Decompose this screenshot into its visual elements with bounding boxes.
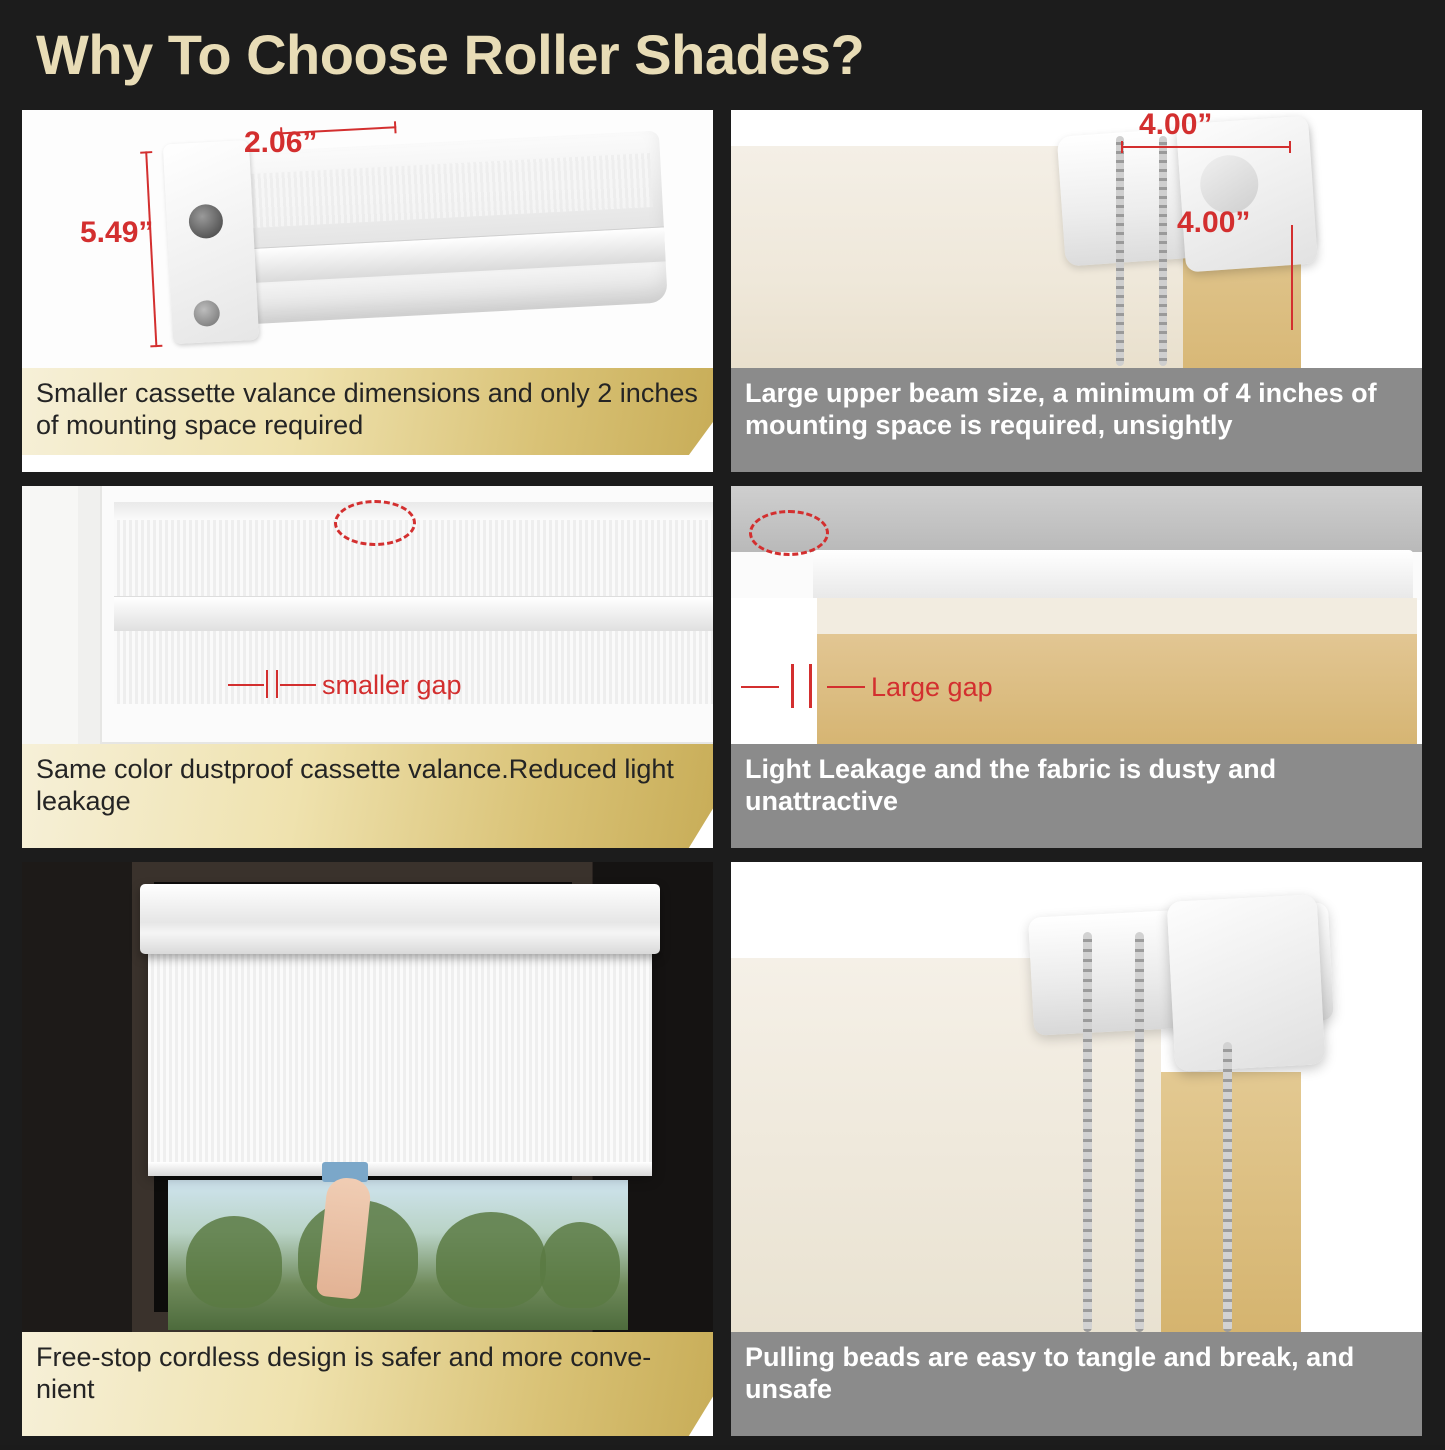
outdoor-view [168, 1180, 628, 1330]
caption-pulling-beads: Pulling beads are easy to tangle and bre… [731, 1332, 1422, 1436]
gap-tick-2 [276, 670, 278, 698]
depth-dimension-label: 2.06” [244, 126, 317, 160]
caption-cassette-valance-dimensions: Smaller cassette valance dimensions and … [22, 368, 713, 455]
caption-dustproof-cassette-valance: Same color dustproof cassette valance.Re… [22, 744, 713, 848]
photo-smaller-gap: smaller gap [22, 486, 713, 744]
grid-row-3: Free-stop cordless design is safer and m… [22, 862, 1422, 1436]
photo-large-gap: Large gap [731, 486, 1422, 744]
grid-row-2: smaller gap Same color dustproof cassett… [22, 486, 1422, 848]
gap-tick-2 [809, 664, 812, 708]
photo-cassette-valance: 5.49” 2.06” [22, 110, 713, 368]
height-dimension-label: 5.49” [80, 216, 153, 250]
bead-chain-left [1116, 136, 1124, 366]
gap-arrow-right [280, 684, 316, 686]
page-title: Why To Choose Roller Shades? [36, 22, 864, 87]
beam-width-label: 4.00” [1139, 110, 1212, 142]
caption-large-upper-beam: Large upper beam size, a minimum of 4 in… [731, 368, 1422, 472]
gap-arrow-right [827, 686, 865, 688]
caption-free-stop-cordless: Free-stop cordless design is safer and m… [22, 1332, 713, 1436]
light-gap-area [731, 598, 817, 744]
photo-bead-chain [731, 862, 1422, 1332]
ceiling-surface [731, 486, 1422, 552]
tree-shape [540, 1222, 620, 1308]
card-light-leakage: Large gap Light Leakage and the fabric i… [731, 486, 1422, 848]
fabric-upper-light [817, 598, 1417, 634]
card-pulling-beads: Pulling beads are easy to tangle and bre… [731, 862, 1422, 1436]
bead-chain-right [1135, 932, 1144, 1332]
bead-chain-loop [1223, 1042, 1232, 1332]
gap-arrow-left [228, 684, 264, 686]
caption-light-leakage: Light Leakage and the fabric is dusty an… [731, 744, 1422, 848]
gap-arrow-left [741, 686, 779, 688]
comparison-grid: 5.49” 2.06” Smaller cassette valance dim… [22, 110, 1422, 1450]
tree-shape [436, 1212, 546, 1308]
card-large-upper-beam: 4.00” 4.00” Large upper beam size, a min… [731, 110, 1422, 472]
gap-tick-1 [791, 664, 794, 708]
shade-bottom-rail [148, 1162, 652, 1176]
photo-room-window [22, 862, 713, 1332]
card-dustproof-cassette-valance: smaller gap Same color dustproof cassett… [22, 486, 713, 848]
grid-row-1: 5.49” 2.06” Smaller cassette valance dim… [22, 110, 1422, 472]
valance-profile-illustration [129, 118, 679, 356]
roller-tube [813, 550, 1413, 602]
depth-dimension-line [1291, 230, 1293, 330]
shade-fabric [148, 952, 652, 1172]
bead-chain-left [1083, 932, 1092, 1332]
card-cassette-valance-dimensions: 5.49” 2.06” Smaller cassette valance dim… [22, 110, 713, 472]
highlight-ellipse-icon [749, 510, 829, 556]
beam-end-bracket [1167, 894, 1326, 1072]
card-free-stop-cordless: Free-stop cordless design is safer and m… [22, 862, 713, 1436]
cassette-valance [140, 884, 660, 954]
smaller-gap-label: smaller gap [322, 670, 462, 701]
wall-left [22, 862, 132, 1332]
shade-rail [114, 596, 713, 631]
infographic-page: Why To Choose Roller Shades? 5.49” [0, 0, 1445, 1445]
photo-large-upper-beam: 4.00” 4.00” [731, 110, 1422, 368]
highlight-ellipse-icon [334, 500, 416, 546]
width-dimension-line [1121, 146, 1291, 148]
bead-chain-right [1159, 136, 1167, 366]
tree-shape [186, 1216, 282, 1308]
beam-depth-label: 4.00” [1177, 206, 1250, 240]
gap-tick-1 [266, 670, 268, 698]
large-gap-label: Large gap [871, 672, 993, 703]
